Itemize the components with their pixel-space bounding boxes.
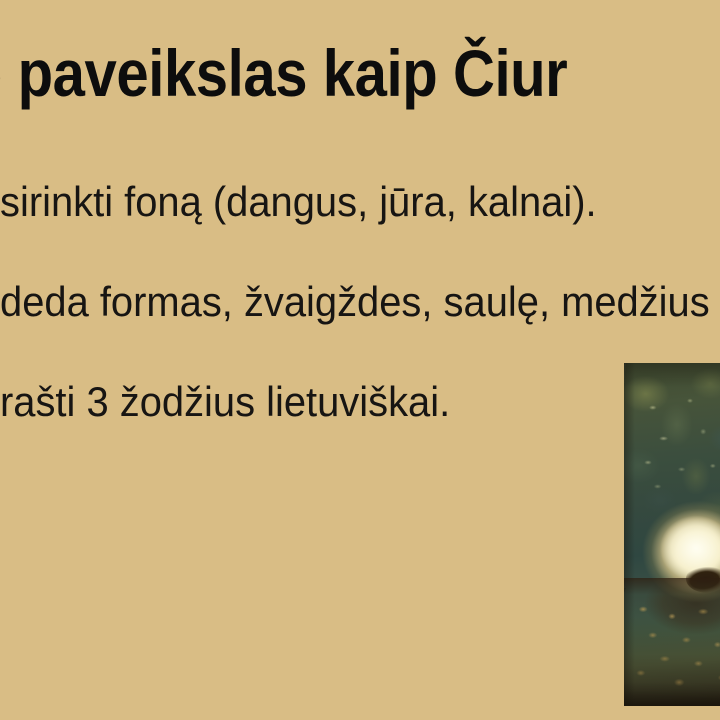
body-line-1: sirinkti foną (dangus, jūra, kalnai). bbox=[0, 178, 720, 226]
page-title: ano paveikslas kaip Čiur bbox=[0, 34, 720, 112]
painting-vignette bbox=[624, 363, 720, 706]
body-text-list: sirinkti foną (dangus, jūra, kalnai). de… bbox=[0, 178, 720, 426]
slide-canvas: ano paveikslas kaip Čiur sirinkti foną (… bbox=[0, 0, 720, 720]
ciurlionis-painting-image bbox=[624, 363, 720, 706]
body-line-2: deda formas, žvaigždes, saulę, medžius bbox=[0, 278, 720, 326]
body-line-3: rašti 3 žodžius lietuviškai. bbox=[0, 378, 720, 426]
